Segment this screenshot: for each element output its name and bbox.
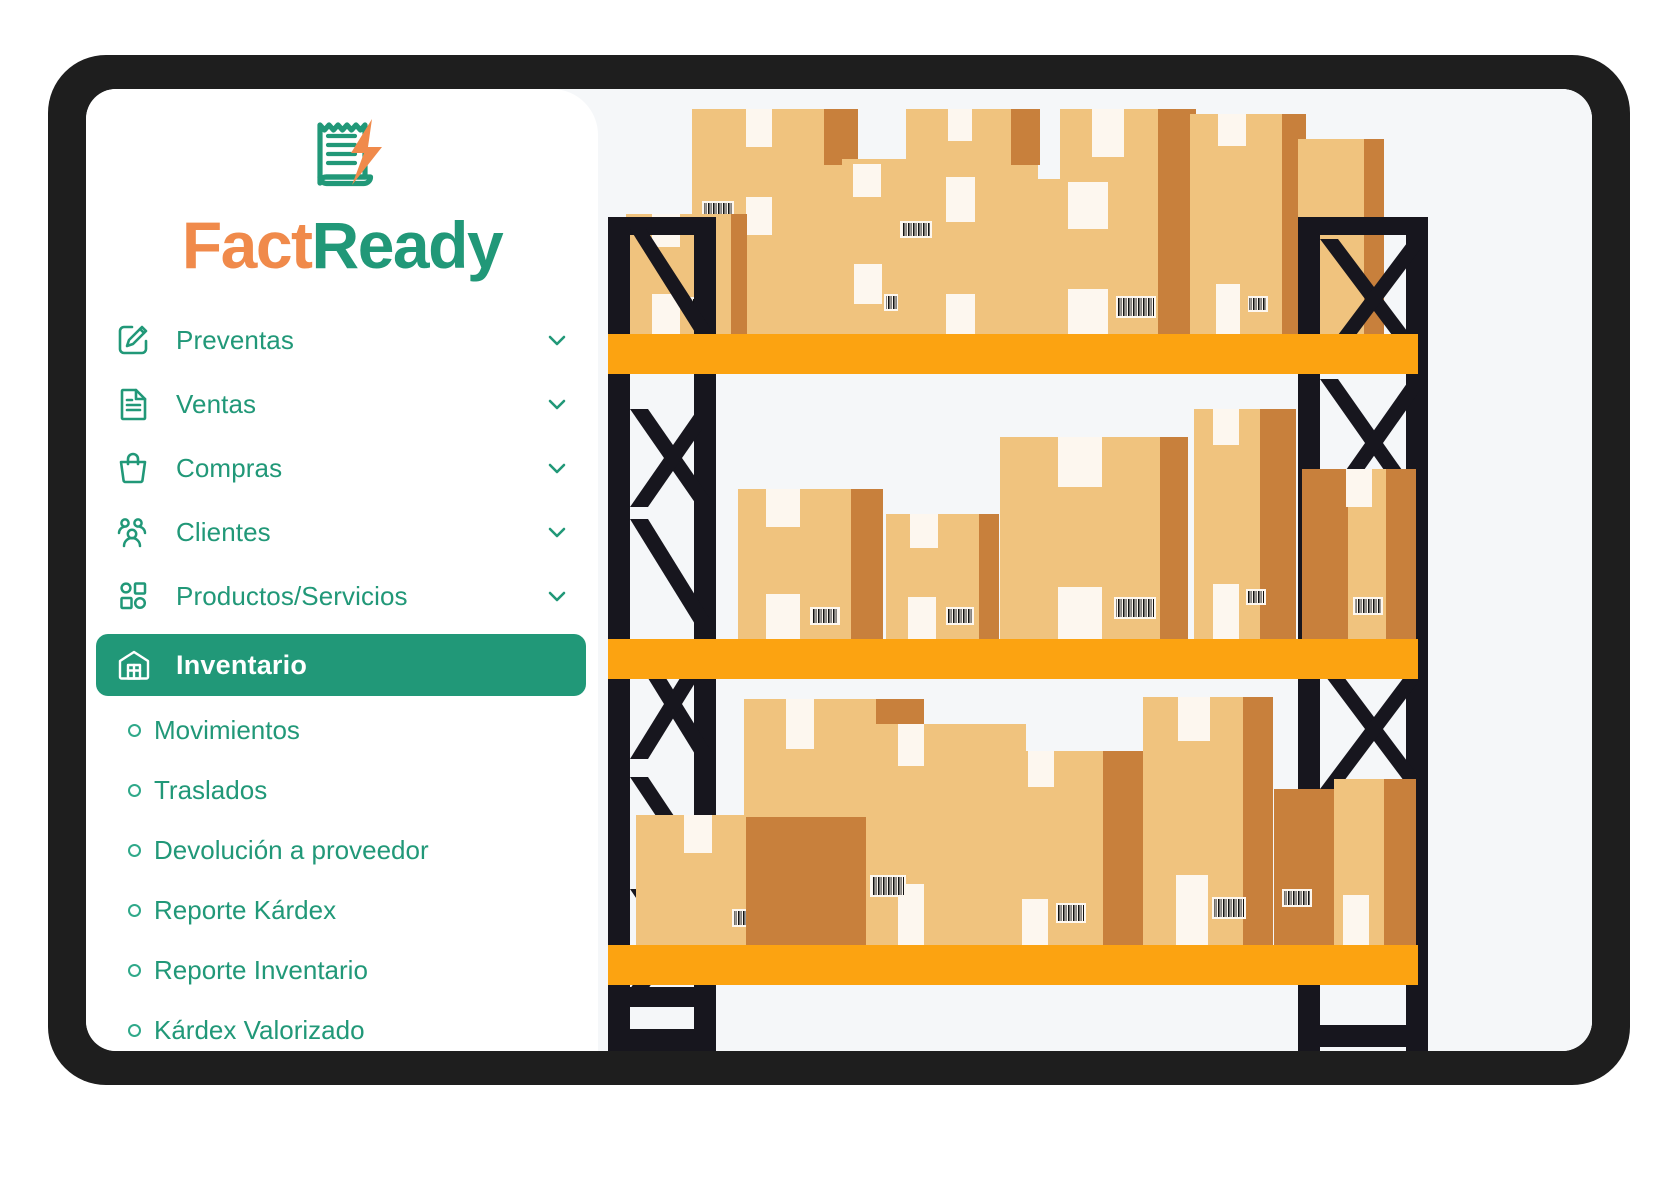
sidebar-subitem-label: Kárdex Valorizado [154, 1015, 365, 1046]
warehouse-icon [112, 643, 156, 687]
bullet-circle-icon [128, 1024, 141, 1037]
sidebar-subitem-label: Devolución a proveedor [154, 835, 429, 866]
brand-name-second: Ready [312, 208, 503, 282]
sidebar-item-label: Preventas [176, 325, 544, 356]
sidebar-item-clientes[interactable]: Clientes [86, 500, 598, 564]
sidebar-item-label: Clientes [176, 517, 544, 548]
chevron-down-icon[interactable] [544, 455, 570, 481]
sidebar-item-ventas[interactable]: Ventas [86, 372, 598, 436]
bullet-circle-icon [128, 784, 141, 797]
chevron-down-icon[interactable] [544, 519, 570, 545]
sidebar-subitem-label: Movimientos [154, 715, 300, 746]
invoice-lightning-icon [290, 111, 394, 203]
sidebar-item-compras[interactable]: Compras [86, 436, 598, 500]
bullet-circle-icon [128, 724, 141, 737]
tablet-device-frame: FactReady Preventas [48, 55, 1630, 1085]
shelf-beam-2 [608, 639, 1418, 679]
shopping-bag-icon [112, 447, 154, 489]
users-icon [112, 511, 154, 553]
sidebar-subitem-label: Reporte Inventario [154, 955, 368, 986]
sidebar-item-label: Ventas [176, 389, 544, 420]
brand-wordmark: FactReady [86, 211, 598, 280]
sidebar-subitem-label: Traslados [154, 775, 267, 806]
sidebar-subitem-movimientos[interactable]: Movimientos [86, 700, 598, 760]
sidebar-item-productos-servicios[interactable]: Productos/Servicios [86, 564, 598, 628]
bullet-circle-icon [128, 964, 141, 977]
sidebar-item-label: Inventario [176, 650, 307, 681]
bullet-circle-icon [128, 844, 141, 857]
sidebar-subitem-reporte-kardex[interactable]: Reporte Kárdex [86, 880, 598, 940]
chevron-down-icon[interactable] [544, 327, 570, 353]
sidebar-subitem-reporte-inventario[interactable]: Reporte Inventario [86, 940, 598, 1000]
shelf-beam-3 [608, 945, 1418, 985]
sidebar-subitem-devolucion-a-proveedor[interactable]: Devolución a proveedor [86, 820, 598, 880]
sidebar-item-preventas[interactable]: Preventas [86, 308, 598, 372]
grid-shapes-icon [112, 575, 154, 617]
main-content-area [598, 89, 1592, 1051]
device-screen: FactReady Preventas [86, 89, 1592, 1051]
document-icon [112, 383, 154, 425]
sidebar-nav: Preventas Ventas [86, 308, 598, 1051]
sidebar-subitem-label: Reporte Kárdex [154, 895, 336, 926]
sidebar: FactReady Preventas [86, 89, 598, 1051]
sidebar-item-inventario[interactable]: Inventario [96, 634, 586, 696]
sidebar-subitem-kardex-valorizado[interactable]: Kárdex Valorizado [86, 1000, 598, 1051]
warehouse-rack-illustration [598, 89, 1592, 1051]
chevron-down-icon[interactable] [544, 391, 570, 417]
boxes-top-tier [626, 109, 1384, 334]
sidebar-item-label: Productos/Servicios [176, 581, 544, 612]
sidebar-item-label: Compras [176, 453, 544, 484]
shelf-beam-1 [608, 334, 1418, 374]
chevron-down-icon[interactable] [544, 583, 570, 609]
bullet-circle-icon [128, 904, 141, 917]
brand-block: FactReady [86, 111, 598, 284]
edit-pencil-icon [112, 319, 154, 361]
brand-name-first: Fact [182, 208, 312, 282]
sidebar-subitem-traslados[interactable]: Traslados [86, 760, 598, 820]
